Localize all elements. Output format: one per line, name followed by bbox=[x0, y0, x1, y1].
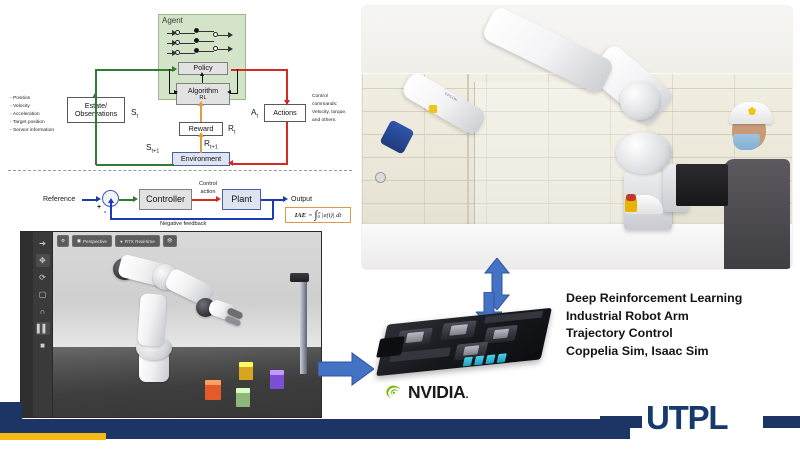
signal-reward-t1: Rt+1 bbox=[204, 139, 218, 151]
output-label: Output bbox=[291, 195, 312, 205]
algorithm-label: Algorithm bbox=[188, 87, 218, 95]
snap-icon[interactable]: ∩ bbox=[36, 305, 50, 318]
slide-title-block: Deep Reinforcement Learning Industrial R… bbox=[566, 290, 798, 360]
line-env-to-reward bbox=[200, 136, 202, 153]
environment-box: Environment bbox=[172, 152, 230, 166]
photo-emergency-stop bbox=[625, 198, 637, 212]
plus-sign: + bbox=[97, 203, 101, 213]
line-action-to-env-vertical bbox=[286, 122, 288, 164]
viewport-tool-strip[interactable]: ➔ ✥ ⟳ ▢ ∩ ▌▌ ■ bbox=[33, 232, 53, 417]
section-divider bbox=[8, 170, 352, 171]
line-feedback-up bbox=[110, 201, 112, 219]
sim-cube-purple bbox=[270, 374, 284, 389]
photo-person-hardhat bbox=[729, 102, 773, 124]
scale-icon[interactable]: ▢ bbox=[36, 288, 50, 301]
nvidia-jetson-board bbox=[378, 306, 556, 384]
line-policy-to-action bbox=[231, 69, 288, 71]
arrowhead-output bbox=[283, 196, 288, 202]
footer-yellow-accent bbox=[0, 433, 106, 440]
sim-cube-green bbox=[236, 392, 250, 407]
nvidia-logo: NVIDIA. bbox=[384, 382, 468, 403]
pcb-connector-blue-1 bbox=[463, 357, 473, 367]
arrowhead-reward-into-agent bbox=[198, 101, 204, 106]
photo-warning-marker bbox=[429, 105, 437, 113]
photo-person-face-mask bbox=[733, 134, 760, 150]
arrowhead-algorithm-loop bbox=[227, 90, 231, 94]
pcb-chip-2 bbox=[440, 320, 477, 340]
sim-camera-pole bbox=[300, 276, 307, 374]
arrow-right-icon bbox=[318, 352, 374, 386]
pcb-connector-blue-4 bbox=[497, 353, 507, 363]
arrowhead-reference bbox=[96, 196, 101, 202]
pcb-header-strip-top bbox=[484, 311, 543, 324]
photo-person-body bbox=[724, 159, 790, 269]
arrowhead-control-action bbox=[216, 196, 221, 202]
lightbulb-icon: ● bbox=[120, 239, 123, 244]
title-line-2: Industrial Robot Arm bbox=[566, 308, 798, 326]
utpl-logo: UTPL bbox=[600, 398, 800, 442]
viewport-left-gutter bbox=[21, 232, 33, 417]
photo-laptop bbox=[676, 164, 728, 206]
rotate-icon[interactable]: ⟳ bbox=[36, 271, 50, 284]
nvidia-eye-icon bbox=[384, 383, 403, 402]
action-annotation-list: Control commands: Velocity, torque, and … bbox=[312, 93, 360, 125]
isaac-sim-viewport[interactable]: ➔ ✥ ⟳ ▢ ∩ ▌▌ ■ ⚙ ◼ Perspective ● RTX Rea… bbox=[20, 231, 322, 418]
negative-feedback-label: Negative feedback bbox=[160, 220, 206, 228]
sim-cube-yellow bbox=[239, 366, 253, 380]
render-mode-chip[interactable]: ● RTX Real-time bbox=[115, 235, 160, 247]
rl-block-diagram: Agent bbox=[0, 0, 358, 175]
gear-icon[interactable]: ⚙ bbox=[57, 235, 69, 247]
line-reward-to-agent bbox=[200, 105, 202, 122]
integral-sign: ∫ bbox=[315, 212, 318, 220]
title-line-1: Deep Reinforcement Learning bbox=[566, 290, 798, 308]
minus-sign: - bbox=[104, 208, 106, 218]
classic-control-loop-diagram: Reference + - Controller Control action … bbox=[0, 175, 358, 235]
title-line-3: Trajectory Control bbox=[566, 325, 798, 343]
utpl-bar-left bbox=[600, 416, 642, 428]
sim-camera-head bbox=[290, 273, 309, 282]
arrowhead-into-algorithm bbox=[174, 90, 178, 94]
line-action-to-env bbox=[232, 163, 288, 165]
signal-state-t: St bbox=[131, 108, 138, 120]
viewport-render-area[interactable]: ⚙ ◼ Perspective ● RTX Real-time 👁 bbox=[53, 232, 321, 417]
camera-mode-label: Perspective bbox=[83, 239, 107, 244]
pcb-connector-blue-3 bbox=[485, 354, 495, 364]
footer-navy-left-block bbox=[0, 402, 22, 424]
iae-label: IAE bbox=[295, 212, 306, 219]
signal-action-t: At bbox=[251, 108, 258, 120]
line-agent-internal-right bbox=[237, 69, 238, 94]
line-control-action bbox=[192, 199, 218, 201]
utpl-wordmark: UTPL bbox=[646, 399, 727, 437]
actions-box: Actions bbox=[264, 104, 306, 122]
pcb-substrate bbox=[376, 308, 552, 376]
camera-mode-chip[interactable]: ◼ Perspective bbox=[72, 235, 112, 247]
pcb-connector-blue-2 bbox=[474, 356, 484, 366]
signal-state-t1: St+1 bbox=[146, 143, 159, 155]
photo-robot-shoulder bbox=[616, 132, 672, 174]
arrowhead-state-to-agent bbox=[172, 66, 177, 72]
line-state-to-agent bbox=[95, 69, 175, 71]
move-icon[interactable]: ✥ bbox=[36, 254, 50, 267]
arrowhead-into-state-box bbox=[92, 93, 98, 98]
neural-network-icon bbox=[173, 28, 235, 58]
arrowhead-error bbox=[133, 196, 138, 202]
arrowhead-into-reward bbox=[198, 132, 204, 137]
reference-label: Reference bbox=[43, 195, 75, 205]
signal-reward-t: Rt bbox=[228, 124, 235, 136]
pause-icon[interactable]: ▌▌ bbox=[36, 322, 50, 335]
control-action-label: Control action bbox=[193, 180, 223, 196]
presentation-slide: Agent bbox=[0, 0, 800, 450]
lab-robot-photo: EPSON bbox=[362, 6, 792, 269]
line-agent-internal-right-h bbox=[230, 93, 238, 94]
line-feedback-down bbox=[272, 199, 274, 219]
utpl-bar-right bbox=[763, 416, 800, 428]
agent-label: Agent bbox=[162, 16, 183, 25]
photo-conduit-pipe bbox=[467, 74, 469, 227]
arrowhead-into-environment bbox=[228, 160, 233, 166]
stop-icon[interactable]: ■ bbox=[36, 339, 50, 352]
camera-icon: ◼ bbox=[77, 238, 81, 244]
eye-icon[interactable]: 👁 bbox=[163, 235, 177, 247]
nvidia-wordmark: NVIDIA. bbox=[408, 382, 468, 403]
controller-box: Controller bbox=[139, 189, 192, 210]
photo-robot-elbow bbox=[620, 82, 660, 120]
select-cursor-icon[interactable]: ➔ bbox=[36, 237, 50, 250]
iae-lower-limit: 0 bbox=[318, 215, 321, 219]
iae-formula-box: IAE = ∫ ∞ 0 |e(t)| dt bbox=[285, 207, 351, 223]
arrowhead-feedback bbox=[108, 198, 114, 203]
sim-cube-orange bbox=[205, 384, 221, 400]
title-line-4: Coppelia Sim, Isaac Sim bbox=[566, 343, 798, 361]
line-agent-internal-left bbox=[169, 69, 170, 94]
sim-robot-link-2 bbox=[137, 293, 167, 347]
render-mode-label: RTX Real-time bbox=[125, 239, 155, 244]
plant-box: Plant bbox=[222, 189, 261, 210]
line-state-vertical bbox=[95, 69, 97, 165]
photo-pressure-gauge bbox=[375, 172, 386, 183]
iae-integrand: |e(t)| dt bbox=[322, 212, 342, 219]
pcb-chip-3 bbox=[484, 325, 518, 344]
arrowhead-into-policy bbox=[200, 72, 204, 76]
arrowhead-into-actions bbox=[284, 100, 290, 105]
state-annotation-list: - Position - Velocity - Acceleration - T… bbox=[10, 95, 70, 135]
viewport-toolbar[interactable]: ⚙ ◼ Perspective ● RTX Real-time 👁 bbox=[57, 235, 177, 247]
iae-equals: = bbox=[308, 212, 312, 219]
line-env-to-state bbox=[96, 164, 174, 166]
line-algorithm-to-policy bbox=[202, 75, 203, 83]
